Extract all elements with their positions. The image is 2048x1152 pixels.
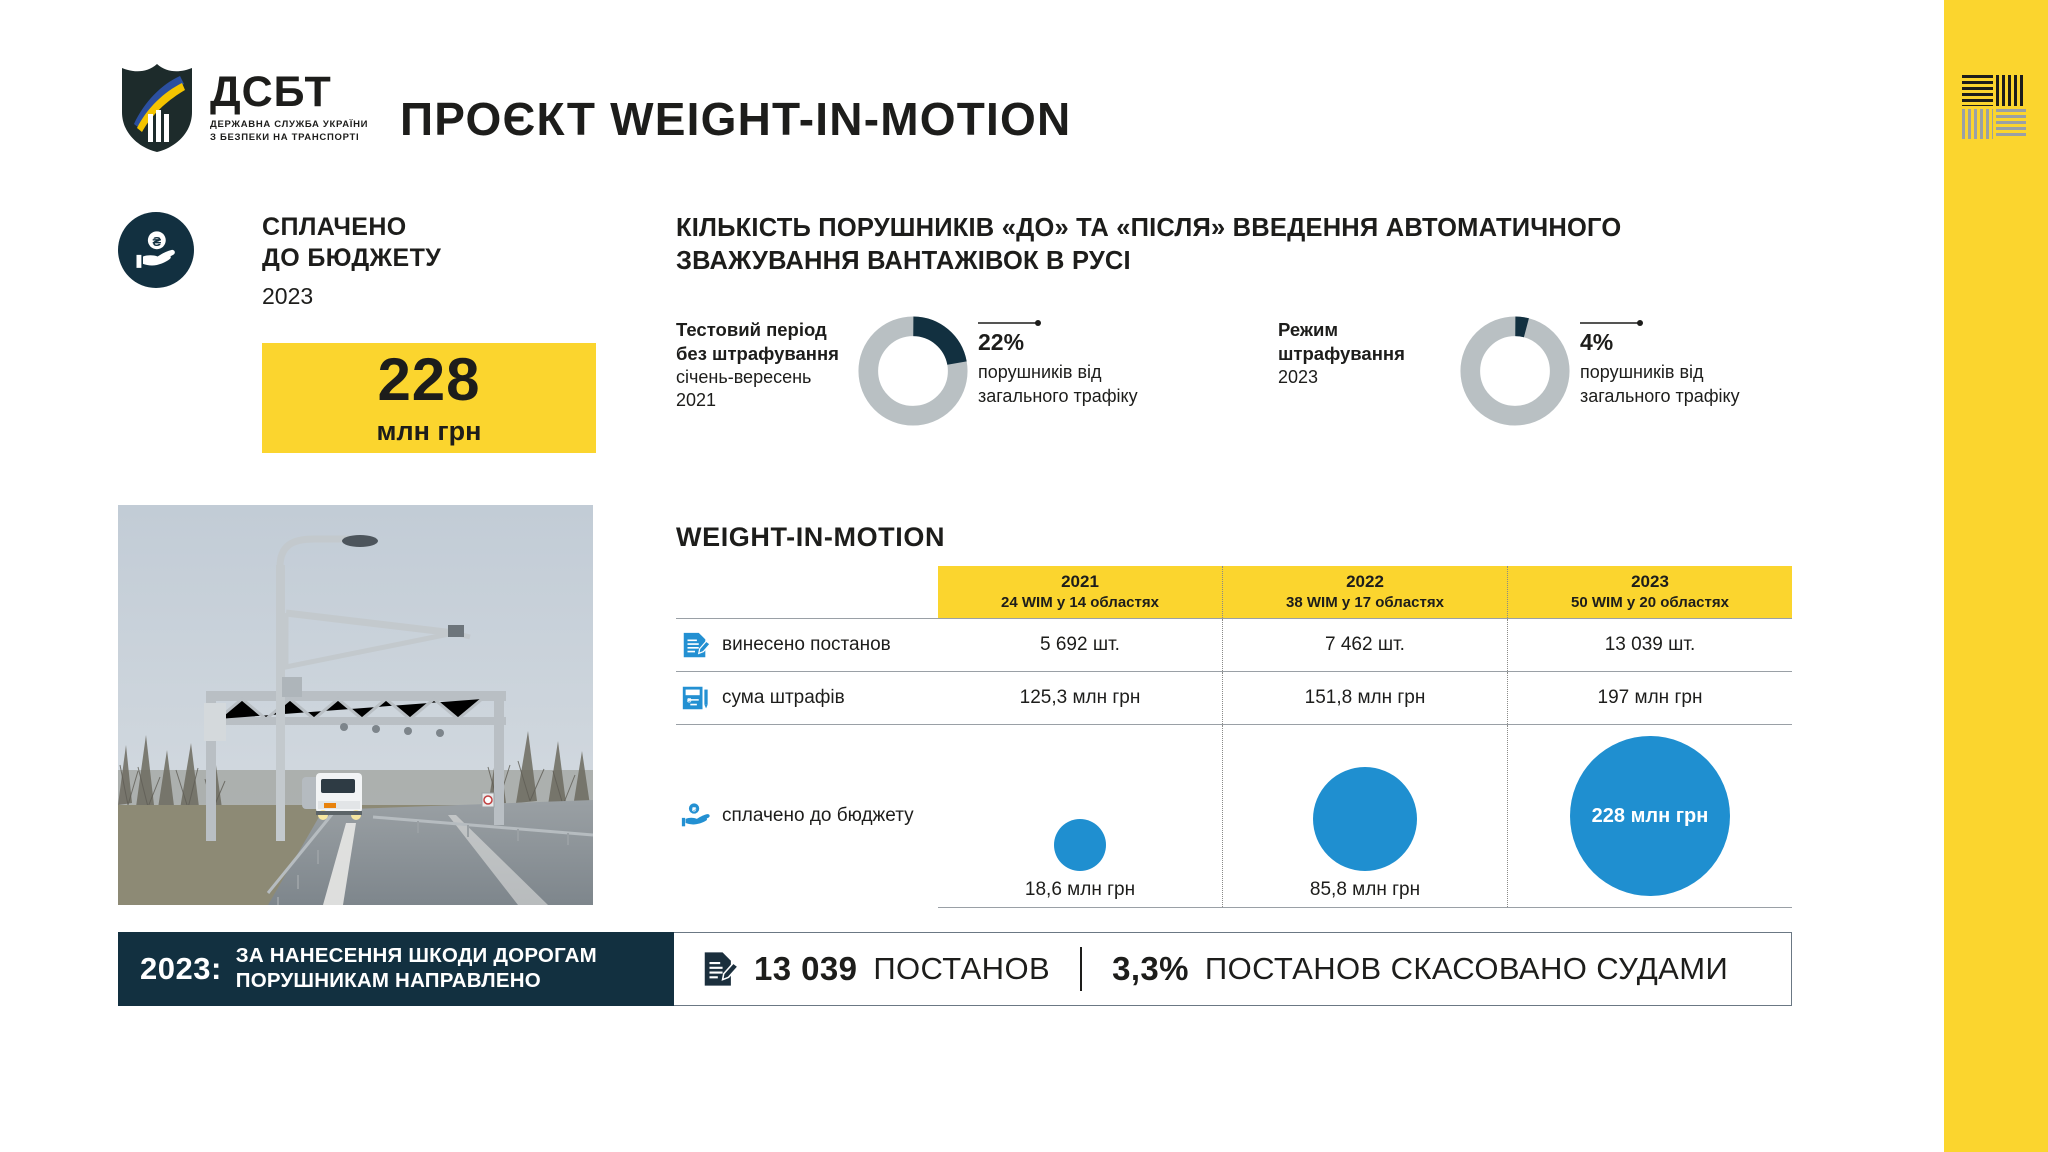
wim-column-header-2021: 2021 24 WIM у 14 областях bbox=[938, 566, 1223, 618]
right-yellow-band bbox=[1944, 0, 2048, 1152]
bubble-2023: 228 млн грн bbox=[1570, 736, 1730, 896]
violators-heading: КІЛЬКІСТЬ ПОРУШНИКІВ «ДО» ТА «ПІСЛЯ» ВВЕ… bbox=[676, 212, 1796, 278]
invoice-with-pen-icon: ₴ bbox=[680, 683, 710, 713]
stripes-bottom-left bbox=[1962, 109, 1993, 140]
leader-line-2 bbox=[1580, 318, 1646, 328]
violators-label-2: Режим штрафування 2023 bbox=[1278, 312, 1446, 389]
table-row: винесено постанов 5 692 шт. 7 462 шт. 13… bbox=[676, 618, 1792, 671]
paid-amount-value: 228 bbox=[377, 350, 480, 410]
wim-table-bottom-rule bbox=[938, 907, 1792, 908]
violators-label-1-weak1: січень-вересень bbox=[676, 366, 844, 389]
wim-cell-0-0: 5 692 шт. bbox=[938, 619, 1223, 671]
wim-cell-0-1: 7 462 шт. bbox=[1223, 619, 1508, 671]
violators-callout-2: 4% порушників від загального трафіку bbox=[1580, 312, 1740, 409]
bubble-2021 bbox=[1054, 819, 1106, 871]
violators-label-2-strong2: штрафування bbox=[1278, 342, 1446, 366]
violators-desc-1-line1: порушників від bbox=[978, 361, 1138, 385]
banner-text-line2: ПОРУШНИКАМ НАПРАВЛЕНО bbox=[236, 969, 597, 994]
banner-right: 13 039 ПОСТАНОВ 3,3% ПОСТАНОВ СКАСОВАНО … bbox=[674, 932, 1792, 1006]
wim-column-header-2023: 2023 50 WIM у 20 областях bbox=[1508, 566, 1792, 618]
logo-subtitle-line2: З БЕЗПЕКИ НА ТРАНСПОРТІ bbox=[210, 132, 368, 145]
banner-text-line1: ЗА НАНЕСЕННЯ ШКОДИ ДОРОГАМ bbox=[236, 944, 597, 969]
banner-stat1-value: 13 039 bbox=[754, 950, 857, 988]
document-with-pen-icon bbox=[680, 630, 710, 660]
svg-text:₴: ₴ bbox=[692, 806, 697, 813]
page-title: ПРОЄКТ WEIGHT-IN-MOTION bbox=[400, 92, 1071, 146]
paid-title-line1: СПЛАЧЕНО bbox=[262, 212, 441, 243]
wim-bubble-row-label-text: сплачено до бюджету bbox=[722, 805, 914, 827]
violators-chart-group-2: Режим штрафування 2023 4% порушників від… bbox=[1278, 312, 1740, 435]
banner-stat1-label: ПОСТАНОВ bbox=[873, 951, 1050, 987]
wim-bubble-cell-2: 228 млн грн bbox=[1508, 725, 1792, 907]
violators-label-1-weak2: 2021 bbox=[676, 389, 844, 412]
paid-to-budget-year: 2023 bbox=[262, 283, 313, 310]
violators-chart-group-1: Тестовий період без штрафування січень-в… bbox=[676, 312, 1138, 435]
banner-text: ЗА НАНЕСЕННЯ ШКОДИ ДОРОГАМ ПОРУШНИКАМ НА… bbox=[236, 944, 597, 993]
wim-table-header: 2021 24 WIM у 14 областях 2022 38 WIM у … bbox=[938, 566, 1792, 618]
svg-text:₴: ₴ bbox=[152, 234, 161, 249]
hand-with-hryvnia-coin-icon: ₴ bbox=[118, 212, 194, 288]
violators-desc-1-line2: загального трафіку bbox=[978, 385, 1138, 409]
wim-cell-1-0: 125,3 млн грн bbox=[938, 672, 1223, 724]
violators-label-2-weak1: 2023 bbox=[1278, 366, 1446, 389]
violators-label-1-strong2: без штрафування bbox=[676, 342, 844, 366]
wim-table: 2021 24 WIM у 14 областях 2022 38 WIM у … bbox=[676, 566, 1792, 908]
violators-heading-line1: КІЛЬКІСТЬ ПОРУШНИКІВ «ДО» ТА «ПІСЛЯ» ВВЕ… bbox=[676, 212, 1796, 245]
violators-callout-1: 22% порушників від загального трафіку bbox=[978, 312, 1138, 409]
leader-line-1 bbox=[978, 318, 1044, 328]
wim-row-cells-0: 5 692 шт. 7 462 шт. 13 039 шт. bbox=[938, 619, 1792, 671]
logo-text: ДСБТ ДЕРЖАВНА СЛУЖБА УКРАЇНИ З БЕЗПЕКИ Н… bbox=[210, 71, 368, 145]
wim-col-sub-0: 24 WIM у 14 областях bbox=[1001, 594, 1159, 611]
wim-col-year-1: 2022 bbox=[1346, 573, 1384, 592]
wim-col-year-2: 2023 bbox=[1631, 573, 1669, 592]
wim-column-header-2022: 2022 38 WIM у 17 областях bbox=[1223, 566, 1508, 618]
logo-subtitle-line1: ДЕРЖАВНА СЛУЖБА УКРАЇНИ bbox=[210, 119, 368, 132]
banner-left: 2023: ЗА НАНЕСЕННЯ ШКОДИ ДОРОГАМ ПОРУШНИ… bbox=[118, 932, 674, 1006]
stripes-top-right bbox=[1996, 75, 2027, 106]
paid-to-budget-title: СПЛАЧЕНО ДО БЮДЖЕТУ bbox=[262, 212, 441, 273]
wim-bubble-cell-1: 85,8 млн грн bbox=[1223, 725, 1508, 907]
violators-desc-2: порушників від загального трафіку bbox=[1580, 361, 1740, 409]
bubble-2022 bbox=[1313, 767, 1417, 871]
logo: ДСБТ ДЕРЖАВНА СЛУЖБА УКРАЇНИ З БЕЗПЕКИ Н… bbox=[118, 62, 368, 154]
banner-stat2-label: ПОСТАНОВ СКАСОВАНО СУДАМИ bbox=[1205, 951, 1728, 987]
stripes-top-left bbox=[1962, 75, 1993, 106]
wim-col-year-0: 2021 bbox=[1061, 573, 1099, 592]
donut-chart-1 bbox=[854, 312, 972, 435]
donut-chart-2 bbox=[1456, 312, 1574, 435]
wim-row-label-1: ₴ сума штрафів bbox=[676, 683, 938, 713]
violators-desc-2-line1: порушників від bbox=[1580, 361, 1740, 385]
logo-abbreviation: ДСБТ bbox=[210, 71, 368, 114]
paid-amount-box: 228 млн грн bbox=[262, 343, 596, 453]
wim-row-label-0: винесено постанов bbox=[676, 630, 938, 660]
violators-label-2-strong1: Режим bbox=[1278, 318, 1446, 342]
table-row: ₴ сплачено до бюджету 18,6 млн грн bbox=[676, 724, 1792, 907]
violators-label-1-strong1: Тестовий період bbox=[676, 318, 844, 342]
bubble-2023-inside: 228 млн грн bbox=[1592, 805, 1709, 828]
decorative-stripes-mark bbox=[1962, 75, 2026, 139]
wim-bubble-cells: 18,6 млн грн 85,8 млн грн 228 млн грн bbox=[938, 725, 1792, 907]
violators-desc-1: порушників від загального трафіку bbox=[978, 361, 1138, 409]
document-with-pen-icon bbox=[700, 948, 738, 990]
paid-title-line2: ДО БЮДЖЕТУ bbox=[262, 243, 441, 274]
bubble-2022-label: 85,8 млн грн bbox=[1310, 879, 1420, 901]
violators-desc-2-line2: загального трафіку bbox=[1580, 385, 1740, 409]
wim-gantry-photo bbox=[118, 505, 593, 905]
stripes-bottom-right bbox=[1996, 109, 2027, 140]
logo-subtitle: ДЕРЖАВНА СЛУЖБА УКРАЇНИ З БЕЗПЕКИ НА ТРА… bbox=[210, 119, 368, 145]
wim-row-cells-1: 125,3 млн грн 151,8 млн грн 197 млн грн bbox=[938, 672, 1792, 724]
svg-text:₴: ₴ bbox=[687, 698, 692, 705]
wim-row-label-text-0: винесено постанов bbox=[722, 634, 891, 656]
infographic-page: ДСБТ ДЕРЖАВНА СЛУЖБА УКРАЇНИ З БЕЗПЕКИ Н… bbox=[0, 0, 2048, 1152]
violators-percent-1: 22% bbox=[978, 330, 1138, 355]
banner-year: 2023: bbox=[140, 951, 222, 987]
wim-table-title: WEIGHT-IN-MOTION bbox=[676, 522, 945, 553]
wim-cell-1-2: 197 млн грн bbox=[1508, 672, 1792, 724]
wim-col-sub-2: 50 WIM у 20 областях bbox=[1571, 594, 1729, 611]
violators-percent-2: 4% bbox=[1580, 330, 1740, 355]
violators-label-1: Тестовий період без штрафування січень-в… bbox=[676, 312, 844, 413]
wim-bubble-cell-0: 18,6 млн грн bbox=[938, 725, 1223, 907]
paid-amount-unit: млн грн bbox=[377, 416, 482, 447]
violators-heading-line2: ЗВАЖУВАННЯ ВАНТАЖІВОК В РУСІ bbox=[676, 245, 1796, 278]
table-row: ₴ сума штрафів 125,3 млн грн 151,8 млн г… bbox=[676, 671, 1792, 724]
wim-bubble-row-label: ₴ сплачено до бюджету bbox=[676, 801, 938, 831]
wim-cell-1-1: 151,8 млн грн bbox=[1223, 672, 1508, 724]
bottom-banner: 2023: ЗА НАНЕСЕННЯ ШКОДИ ДОРОГАМ ПОРУШНИ… bbox=[118, 932, 1792, 1006]
wim-cell-0-2: 13 039 шт. bbox=[1508, 619, 1792, 671]
hand-with-hryvnia-coin-icon: ₴ bbox=[680, 801, 710, 831]
banner-stat2-value: 3,3% bbox=[1112, 950, 1189, 988]
wim-row-label-text-1: сума штрафів bbox=[722, 687, 845, 709]
shield-icon bbox=[118, 62, 196, 154]
bubble-2021-label: 18,6 млн грн bbox=[1025, 879, 1135, 901]
banner-divider bbox=[1080, 947, 1082, 991]
wim-col-sub-1: 38 WIM у 17 областях bbox=[1286, 594, 1444, 611]
